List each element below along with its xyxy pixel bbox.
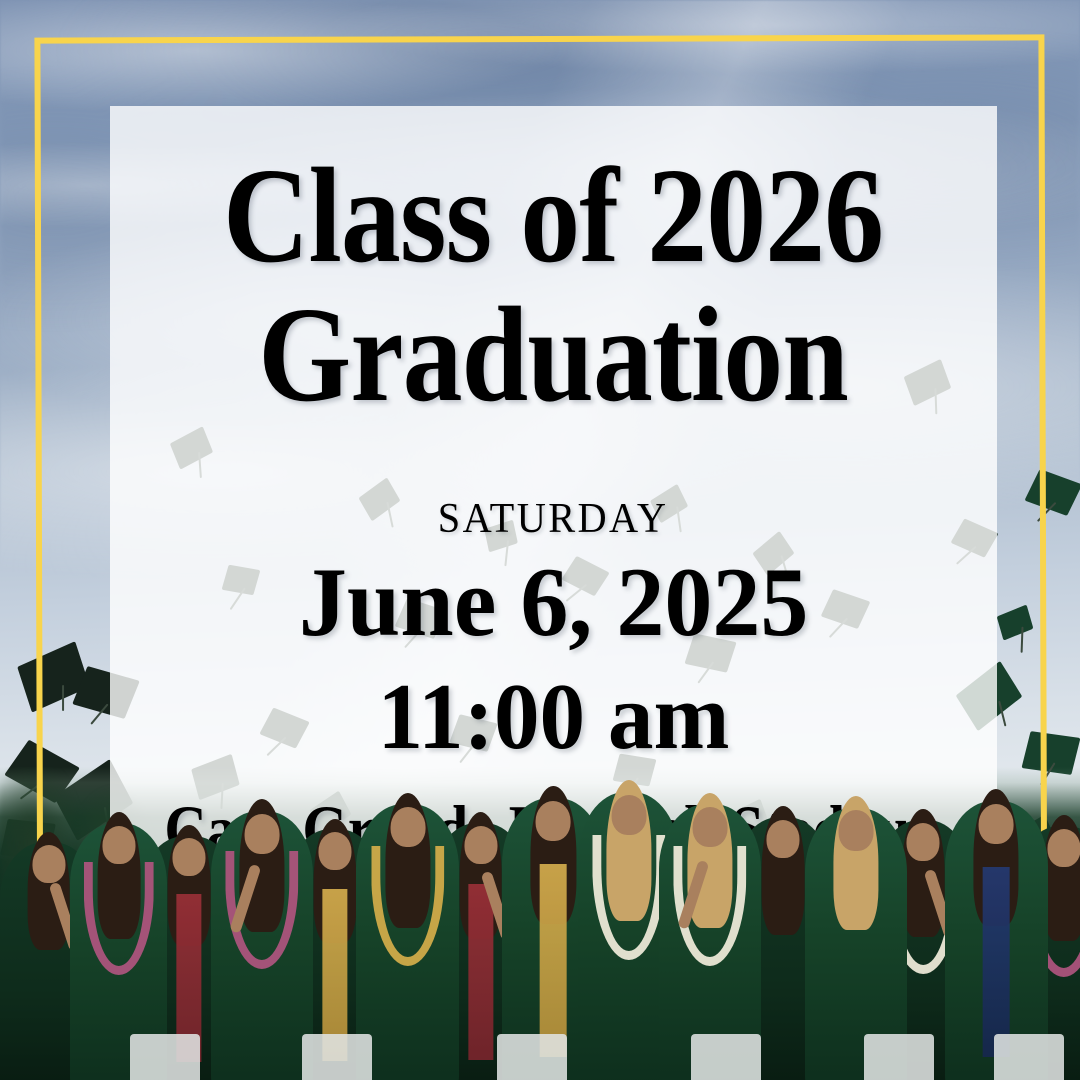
graduate-head xyxy=(1047,829,1080,867)
folding-chair xyxy=(130,1034,200,1080)
headline-line-2: Graduation xyxy=(259,289,849,422)
headline-line-1: Class of 2026 xyxy=(223,150,883,283)
graduate-head xyxy=(838,810,873,850)
cap-tassel xyxy=(1020,627,1023,653)
day-of-week-label: SATURDAY xyxy=(438,495,669,543)
graduate-head xyxy=(766,820,799,858)
graduate-figure xyxy=(211,811,314,1080)
graduate-head xyxy=(32,845,65,883)
graduate-head xyxy=(693,807,728,847)
folding-chair xyxy=(864,1034,934,1080)
graduation-lei xyxy=(371,846,444,967)
graduate-head xyxy=(102,826,135,864)
graduation-stole xyxy=(468,884,493,1060)
cap-board xyxy=(997,605,1034,641)
event-date: June 6, 2025 xyxy=(299,553,809,654)
graduation-cap-icon xyxy=(996,606,1034,639)
graduate-head xyxy=(536,801,571,841)
graduate-head xyxy=(244,814,279,854)
graduate-head xyxy=(390,807,425,847)
graduation-stole xyxy=(983,867,1010,1057)
graduate-head xyxy=(172,838,205,876)
graduate-head xyxy=(612,795,647,835)
graduation-announcement-poster: Class of 2026 Graduation SATURDAY June 6… xyxy=(0,0,1080,1080)
event-time: 11:00 am xyxy=(377,670,729,766)
folding-chair xyxy=(302,1034,372,1080)
text-panel: Class of 2026 Graduation SATURDAY June 6… xyxy=(110,106,997,874)
graduation-stole xyxy=(540,864,567,1056)
graduation-lei xyxy=(592,835,665,961)
folding-chair xyxy=(497,1034,567,1080)
graduate-head xyxy=(318,832,351,870)
cap-board xyxy=(1025,469,1080,516)
graduate-head xyxy=(907,823,940,861)
folding-chair xyxy=(691,1034,761,1080)
graduation-cap-icon xyxy=(1026,467,1080,518)
graduate-head xyxy=(464,826,497,864)
cap-tassel xyxy=(61,686,63,712)
folding-chair xyxy=(994,1034,1064,1080)
graduate-head xyxy=(979,804,1014,844)
graduation-lei xyxy=(84,862,154,976)
